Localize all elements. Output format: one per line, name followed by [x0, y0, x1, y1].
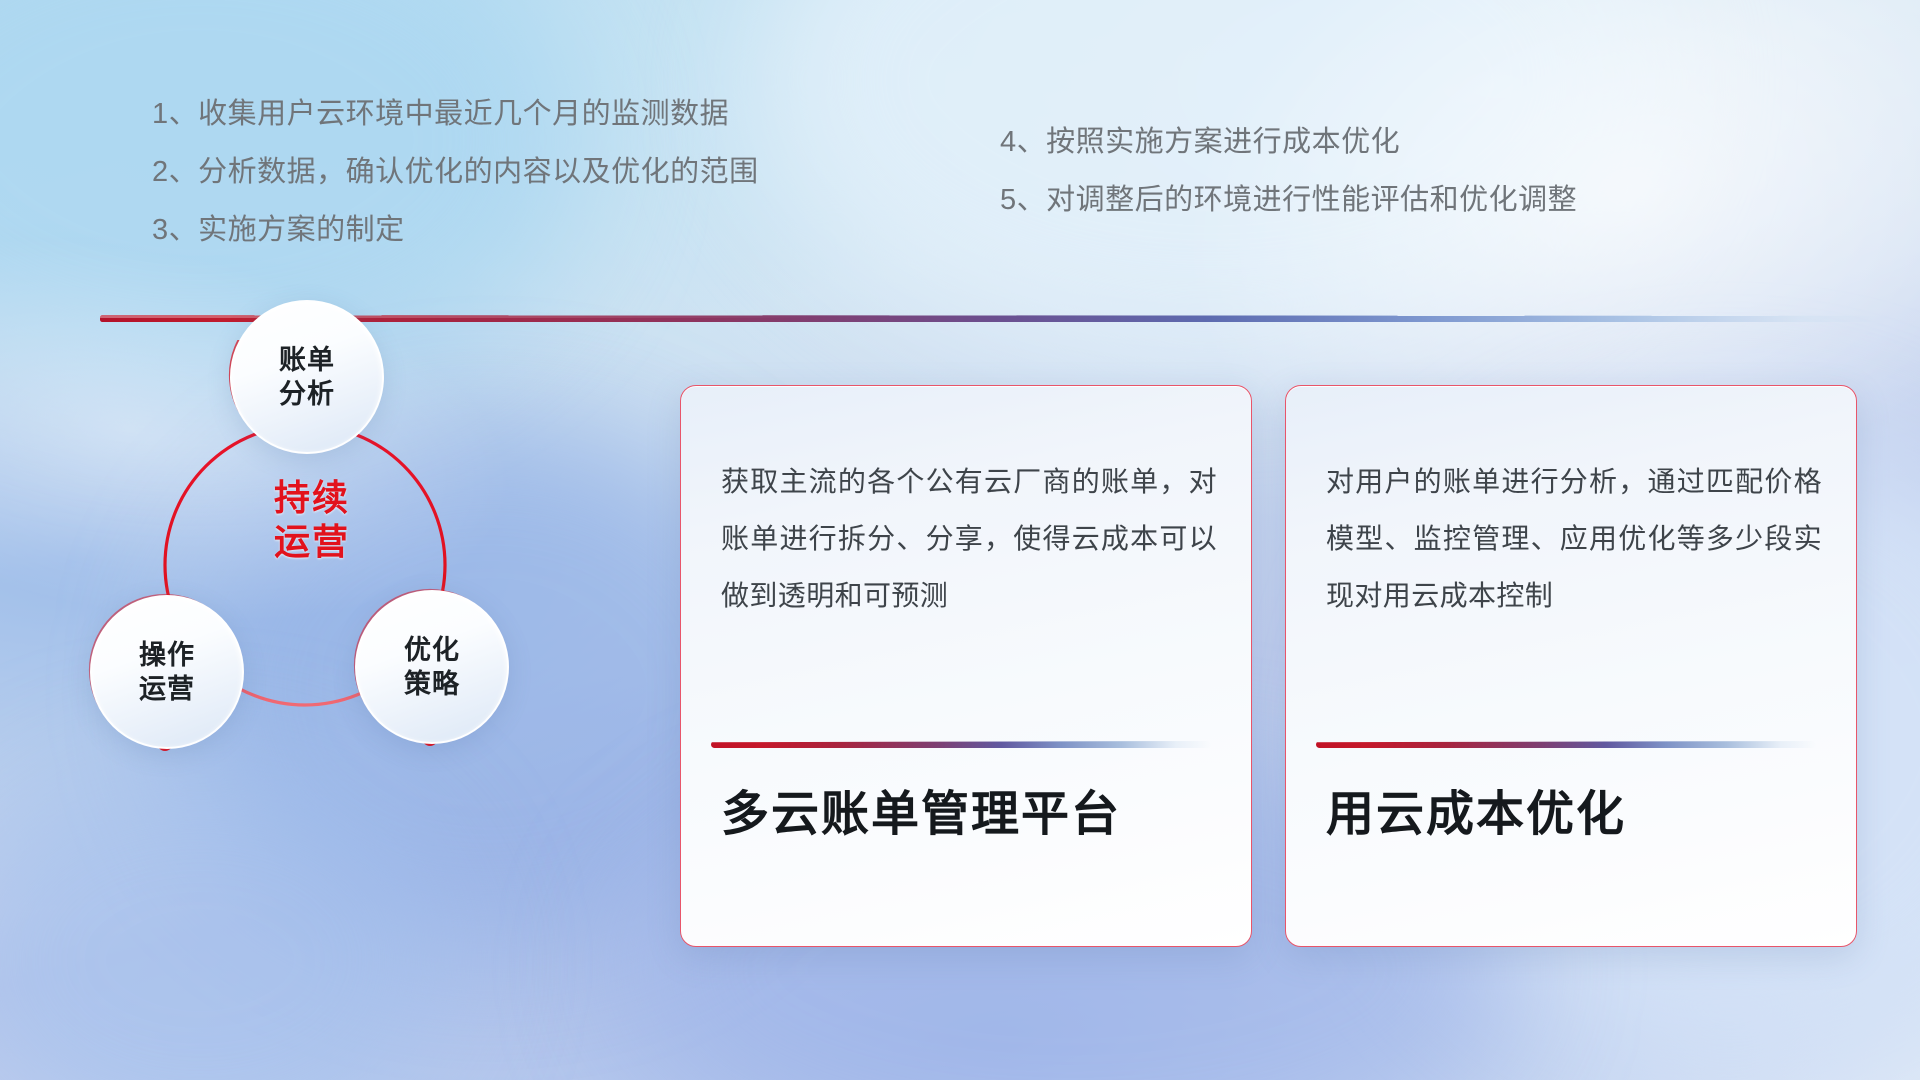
diagram-center-label: 持续 运营: [217, 476, 407, 564]
steps-list-left: 1、收集用户云环境中最近几个月的监测数据 2、分析数据，确认优化的内容以及优化的…: [152, 100, 759, 274]
center-label-line1: 持续: [217, 476, 407, 520]
bubble-label-line1: 账单: [279, 343, 335, 377]
card-multicloud-billing[interactable]: 获取主流的各个公有云厂商的账单，对账单进行拆分、分享，使得云成本可以做到透明和可…: [680, 385, 1252, 947]
step-item-3: 3、实施方案的制定: [152, 216, 759, 245]
step-item-4: 4、按照实施方案进行成本优化: [1000, 128, 1577, 157]
section-divider: [100, 315, 1890, 322]
step-item-1: 1、收集用户云环境中最近几个月的监测数据: [152, 100, 759, 129]
card-title: 多云账单管理平台: [721, 786, 1221, 844]
bubble-label-line1: 优化: [404, 633, 460, 667]
card-body: 对用户的账单进行分析，通过匹配价格模型、监控管理、应用优化等多少段实现对用云成本…: [1326, 454, 1822, 624]
bubble-label-line2: 运营: [139, 672, 195, 706]
card-divider: [1316, 741, 1816, 748]
bubble-operations[interactable]: 操作 运营: [90, 595, 244, 749]
bubble-label-line2: 分析: [279, 377, 335, 411]
step-item-2: 2、分析数据，确认优化的内容以及优化的范围: [152, 158, 759, 187]
card-divider: [711, 741, 1211, 748]
bubble-label-line1: 操作: [139, 638, 195, 672]
card-title: 用云成本优化: [1326, 786, 1826, 844]
card-body: 获取主流的各个公有云厂商的账单，对账单进行拆分、分享，使得云成本可以做到透明和可…: [721, 454, 1217, 624]
step-item-5: 5、对调整后的环境进行性能评估和优化调整: [1000, 186, 1577, 215]
bubble-bill-analysis[interactable]: 账单 分析: [230, 300, 384, 454]
card-cloud-cost-optimization[interactable]: 对用户的账单进行分析，通过匹配价格模型、监控管理、应用优化等多少段实现对用云成本…: [1285, 385, 1857, 947]
slide-canvas: 1、收集用户云环境中最近几个月的监测数据 2、分析数据，确认优化的内容以及优化的…: [0, 0, 1920, 1080]
bubble-optimization-strategy[interactable]: 优化 策略: [355, 590, 509, 744]
continuous-operation-diagram: 账单 分析 操作 运营 优化 策略 持续 运营: [80, 340, 560, 870]
steps-list-right: 4、按照实施方案进行成本优化 5、对调整后的环境进行性能评估和优化调整: [1000, 128, 1577, 244]
center-label-line2: 运营: [217, 520, 407, 564]
bubble-label-line2: 策略: [404, 667, 460, 701]
